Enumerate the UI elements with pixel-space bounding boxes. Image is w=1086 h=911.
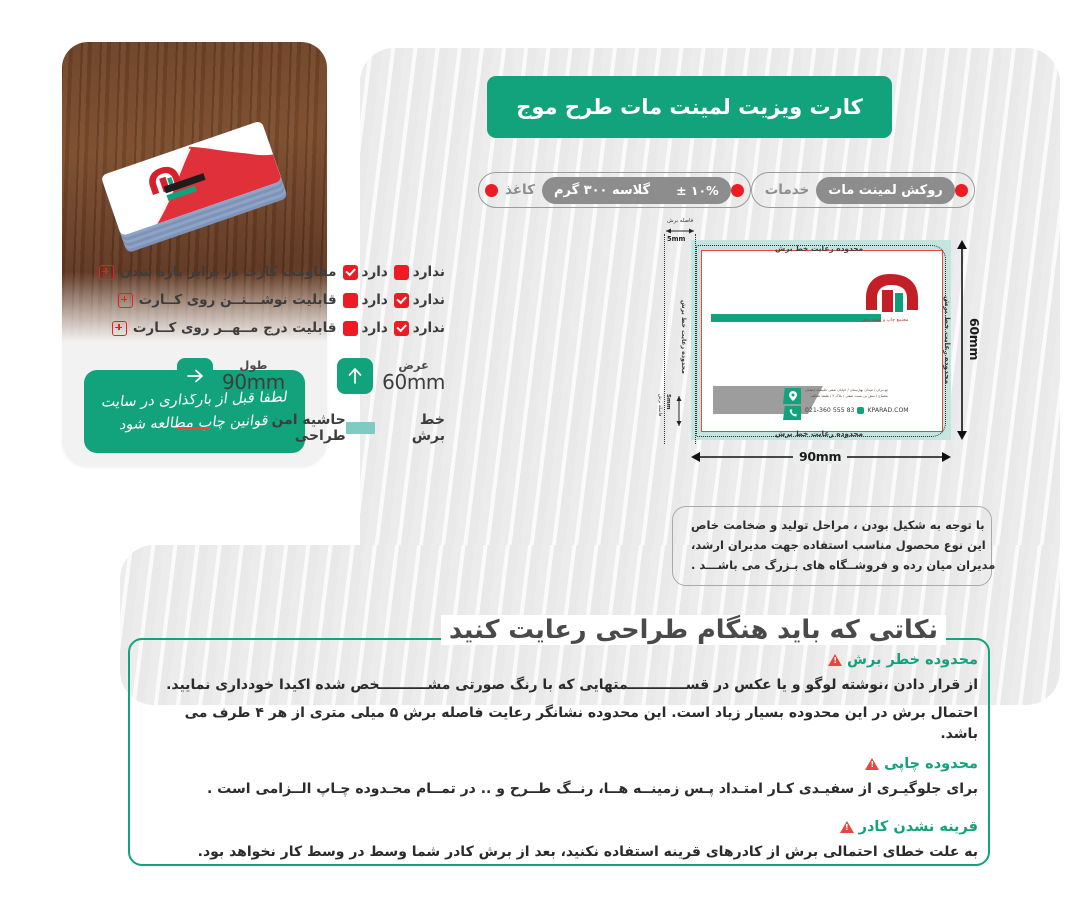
feature-option-not[interactable]: ندارد [394,264,445,280]
feature-not-label: ندارد [413,292,445,308]
red-line-swatch-icon [177,427,210,430]
spec-paper-grammage: گلاسه ۳۰۰ گرم [554,183,650,198]
dimension-length-text: طول 90mm [222,359,285,392]
warning-triangle-icon [865,758,879,770]
dimension-width-value: 60mm [382,372,445,393]
feature-has-label: دارد [362,320,388,336]
diagram-label-left: محدوده رعایت خط برش [680,300,687,374]
diagram-bleed-value-bottom: 5mm [665,394,671,410]
product-description-box: با توجه به شکیل بودن ، مراحل تولید و ضخا… [672,506,992,586]
diagram-card-logo-icon [860,272,930,320]
note-paragraph: احتمال برش در این محدوده بسیار زیاد است.… [148,703,978,745]
spec-sheet-stage: لطفا قبل از بارگذاری در سایت قوانین چاپ … [0,0,1086,911]
feature-row: ندارد دارد قابلیت نوشـــتــن روی کــارت [177,286,445,314]
feature-label: قابلیت نوشـــتــن روی کــارت [139,292,337,308]
diagram-dimension-width: 90mm [793,449,847,464]
feature-label: قابلیت درج مــهــر روی کــارت [133,320,337,336]
spec-tolerance-paper: ۱۰% ± [676,183,719,198]
legend-label-safe-margin: حاشیه امن طراحی [218,412,345,444]
note-heading: محدوده چاپی [884,756,978,772]
bleed-guide-left-outer [664,234,665,444]
dimension-width-text: عرض 60mm [382,359,445,392]
feature-option-not[interactable]: ندارد [394,320,445,336]
spec-key-services: خدمات [758,182,817,198]
address-line-2: مصباح / نبش بن بست صفی / پلاک ۲ / طبقه ه… [805,394,888,400]
address-line-1: تهـــران / میدان بهارستان / خیابان صفی ع… [805,388,888,394]
diagram-label-right: محدوده رعایت خط برش [943,296,952,384]
diagram-label-top: محدوده رعایت خط برش [775,244,863,253]
dimension-row: عرض 60mm طول 90mm [177,358,445,394]
design-notes-content: محدوده خطر برش از قرار دادن ،نوشته لوگو … [148,650,978,863]
spec-pill-row: روکش لمینت مات خدمات ۱۰% ± گلاسه ۳۰۰ گرم… [480,170,975,210]
pill-dot-icon [731,184,744,197]
legend-item-safe-margin: حاشیه امن طراحی [177,412,346,444]
design-notes-title: نکاتی که باید هنگام طراحی رعایت کنید [441,615,946,645]
feature-option-has[interactable]: دارد [343,292,388,308]
dimension-length-value: 90mm [222,372,285,393]
phone-badge [783,406,801,420]
diagram-bleed-value-top: 5mm [667,235,685,243]
feature-list: ندارد دارد مقاومت کارت در برابر پاره شدن… [177,258,445,342]
diagram-card-green-bar [711,314,881,322]
feature-not-label: ندارد [413,320,445,336]
feature-option-not[interactable]: ندارد [394,292,445,308]
feature-option-has[interactable]: دارد [343,264,388,280]
dimension-length: طول 90mm [177,358,285,394]
plus-box-icon [112,321,127,336]
diagram-card-contact-line: 021-360 555 83 KPARAD.COM [805,407,909,414]
teal-block-swatch-icon [346,422,375,434]
legend-item-cut-line: خط برش [346,412,445,444]
note-paragraph: برای جلوگیـری از سفیـدی کـار امتـداد پـس… [148,779,978,800]
checkbox-unchecked-icon[interactable] [343,321,358,336]
product-title: کارت ویزیت لمینت مات طرح موج [516,95,863,119]
spec-value-services: روکش لمینت مات [816,177,955,204]
note-heading: قرینه نشدن کادر [859,819,978,835]
feature-has-label: دارد [362,264,388,280]
note-heading: محدوده خطر برش [847,652,978,668]
legend-label-cut-line: خط برش [383,412,445,444]
note-paragraph: از قرار دادن ،نوشته لوگو و یا عکس در قسـ… [148,675,978,696]
description-line-3: مدیران میان رده و فروشــگاه های بـزرگ می… [691,559,995,573]
feature-not-label: ندارد [413,264,445,280]
arrow-right-icon [177,358,213,394]
location-pin-badge [783,388,801,404]
description-line-2: این نوع محصول مناسب استفاده جهت مدیران ا… [691,539,986,553]
feature-has-label: دارد [362,292,388,308]
diagram-card-logo-subtitle: مجتمع چاپ و بسته بندی [862,318,908,323]
feature-row: ندارد دارد قابلیت درج مــهــر روی کــارت [177,314,445,342]
diagram-label-bottom: محدوده رعایت خط برش [775,429,863,438]
feature-row: ندارد دارد مقاومت کارت در برابر پاره شدن [177,258,445,286]
plus-box-icon [99,265,114,280]
product-title-banner: کارت ویزیت لمینت مات طرح موج [487,76,892,138]
checkbox-unchecked-icon[interactable] [394,265,409,280]
warning-triangle-icon [840,821,854,833]
diagram-bleed-caption-bottom: فاصله برش [657,394,662,416]
diagram-card-phone: 021-360 555 83 [805,407,854,414]
card-layout-diagram: مجتمع چاپ و بسته بندی تهـــران / میدان ب… [655,218,995,478]
note-heading-row: محدوده چاپی [148,756,978,772]
diagram-card-grey-shape [713,386,783,414]
dimension-width: عرض 60mm [337,358,445,394]
spec-key-paper: کاغذ [498,182,542,198]
legend-row: خط برش حاشیه امن طراحی [177,412,445,444]
spec-pill-services: روکش لمینت مات خدمات [751,172,975,208]
pill-dot-icon [955,184,968,197]
diagram-card-website: KPARAD.COM [867,407,908,414]
description-line-1: با توجه به شکیل بودن ، مراحل تولید و ضخا… [691,519,985,533]
diagram-dimension-height: 60mm [967,318,982,360]
note-heading-row: محدوده خطر برش [148,652,978,668]
arrow-up-icon [337,358,373,394]
bleed-arrow-bottom-icon [675,394,683,428]
feature-label: مقاومت کارت در برابر پاره شدن [120,264,337,280]
checkbox-checked-icon[interactable] [394,321,409,336]
checkbox-checked-icon[interactable] [394,293,409,308]
diagram-bleed-caption-top: فاصله برش [667,218,693,224]
globe-icon [857,407,864,414]
spec-pill-paper: ۱۰% ± گلاسه ۳۰۰ گرم کاغذ [478,172,751,208]
spec-value-paper: ۱۰% ± گلاسه ۳۰۰ گرم [542,177,731,204]
business-card-stack-image [90,120,300,270]
bleed-guide-left-inner [695,234,696,444]
diagram-card-address: تهـــران / میدان بهارستان / خیابان صفی ع… [805,388,888,400]
feature-option-has[interactable]: دارد [343,320,388,336]
product-photo-card: لطفا قبل از بارگذاری در سایت قوانین چاپ … [62,42,327,467]
plus-box-icon [118,293,133,308]
warning-triangle-icon [828,654,842,666]
pill-dot-icon [485,184,498,197]
bleed-arrow-top-icon [664,227,696,235]
note-paragraph: به علت خطای احتمالی برش از کادرهای قرینه… [148,842,978,863]
note-heading-row: قرینه نشدن کادر [148,819,978,835]
checkbox-checked-icon[interactable] [343,265,358,280]
checkbox-unchecked-icon[interactable] [343,293,358,308]
